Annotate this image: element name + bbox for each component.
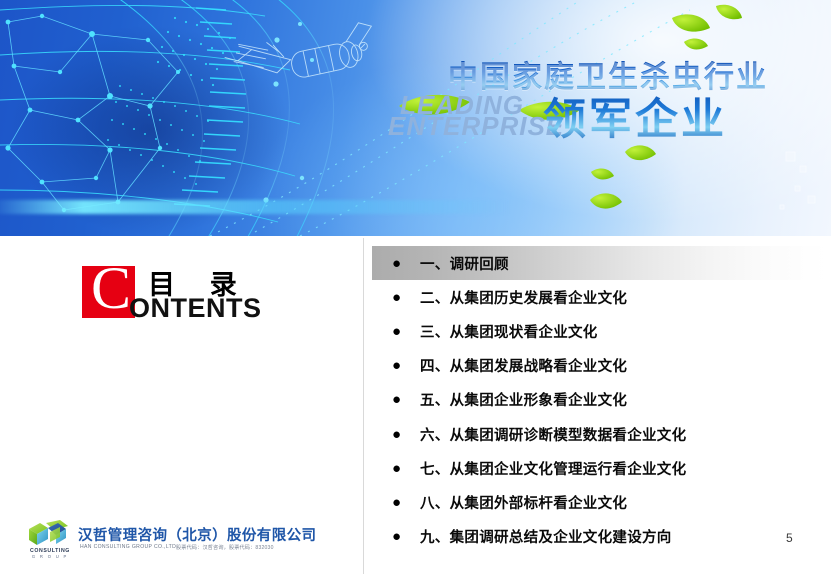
bullet-icon: ● [392,461,404,476]
banner-text-block: 中国家庭卫生杀虫行业 LEADING ENTERPRISE 领军企业 [390,52,820,162]
logo-caption-sub: G R O U P [24,554,76,559]
cube-logo-icon [26,519,72,549]
toc-item-3[interactable]: ●三、从集团现状看企业文化 [372,314,827,348]
toc-item-label: 二、从集团历史发展看企业文化 [420,287,627,308]
toc-item-9[interactable]: ●九、集团调研总结及企业文化建设方向 [372,520,827,554]
bullet-icon: ● [392,392,404,407]
company-meta: 股票代码：汉哲咨询，股票代码：832030 [176,544,274,551]
table-of-contents: ●一、调研回顾●二、从集团历史发展看企业文化●三、从集团现状看企业文化●四、从集… [372,246,827,554]
bullet-icon: ● [392,529,404,544]
toc-item-2[interactable]: ●二、从集团历史发展看企业文化 [372,280,827,314]
banner-subline-enterprise: ENTERPRISE [388,111,564,142]
bullet-icon: ● [392,495,404,510]
bullet-icon: ● [392,427,404,442]
contents-initial-letter: C [88,259,134,317]
vertical-divider [363,238,364,574]
contents-title-en: ONTENTS [129,293,262,324]
toc-item-6[interactable]: ●六、从集团调研诊断模型数据看企业文化 [372,417,827,451]
company-name-cn: 汉哲管理咨询（北京）股份有限公司 [78,524,316,545]
banner-subline-cn: 领军企业 [543,85,727,147]
toc-item-8[interactable]: ●八、从集团外部标杆看企业文化 [372,485,827,519]
toc-item-label: 九、集团调研总结及企业文化建设方向 [420,526,672,547]
contents-initial-box: C [82,266,135,318]
toc-item-label: 四、从集团发展战略看企业文化 [420,355,627,376]
header-banner: 中国家庭卫生杀虫行业 LEADING ENTERPRISE 领军企业 [0,0,831,236]
toc-item-4[interactable]: ●四、从集团发展战略看企业文化 [372,349,827,383]
toc-item-5[interactable]: ●五、从集团企业形象看企业文化 [372,383,827,417]
toc-item-label: 三、从集团现状看企业文化 [420,321,598,342]
toc-item-label: 五、从集团企业形象看企业文化 [420,389,627,410]
slide-canvas: 中国家庭卫生杀虫行业 LEADING ENTERPRISE 领军企业 C 目 录… [0,0,831,574]
contents-heading: C 目 录 ONTENTS [82,266,257,322]
toc-item-7[interactable]: ●七、从集团企业文化管理运行看企业文化 [372,451,827,485]
company-name-en: HAN CONSULTING GROUP CO.,LTD [80,544,176,550]
company-logo: CONSULTING G R O U P 汉哲管理咨询（北京）股份有限公司 HA… [26,519,326,563]
bullet-icon: ● [392,358,404,373]
toc-item-label: 八、从集团外部标杆看企业文化 [420,492,627,513]
toc-item-label: 一、调研回顾 [420,253,509,274]
bullet-icon: ● [392,290,404,305]
toc-item-label: 六、从集团调研诊断模型数据看企业文化 [420,424,686,445]
toc-item-label: 七、从集团企业文化管理运行看企业文化 [420,458,686,479]
bullet-icon: ● [392,324,404,339]
banner-glow-line [0,200,510,214]
toc-item-1[interactable]: ●一、调研回顾 [372,246,827,280]
bullet-icon: ● [392,256,404,271]
page-number: 5 [786,531,793,545]
